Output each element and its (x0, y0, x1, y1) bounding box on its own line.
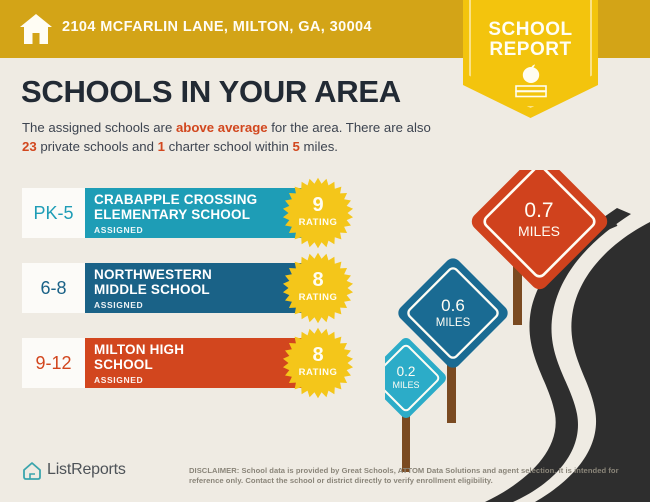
badge-title: SCHOOL REPORT (463, 20, 598, 60)
summary-part-4: charter school within (165, 139, 293, 154)
summary-highlight-radius: 5 (293, 139, 300, 154)
sign-2-unit: MILES (436, 317, 471, 329)
summary-part-2: for the area. There are also (268, 120, 431, 135)
summary-part-5: miles. (300, 139, 338, 154)
school-report-badge: SCHOOL REPORT (463, 0, 598, 118)
school-name-bar: CRABAPPLE CROSSING ELEMENTARY SCHOOL ASS… (85, 188, 315, 238)
listreports-house-icon (22, 461, 42, 481)
grade-range-badge: PK-5 (22, 188, 85, 238)
school-name-bar: NORTHWESTERN MIDDLE SCHOOL ASSIGNED (85, 263, 315, 313)
property-address: 2104 MCFARLIN LANE, MILTON, GA, 30004 (62, 19, 372, 35)
road-scene: 0.7 MILES 0.6 MILES 0.2 MILES (385, 170, 650, 502)
sign-3-unit: MILES (518, 223, 560, 239)
disclaimer-text: DISCLAIMER: School data is provided by G… (189, 466, 636, 486)
grade-range-badge: 9-12 (22, 338, 85, 388)
school-name-bar: MILTON HIGH SCHOOL ASSIGNED (85, 338, 315, 388)
school-name-line2: ELEMENTARY SCHOOL (94, 207, 250, 222)
rating-starburst: 9 RATING (282, 177, 354, 249)
school-name-line1: CRABAPPLE CROSSING (94, 192, 257, 207)
sign-3-value: 0.7 (524, 199, 553, 222)
summary-highlight-private-count: 23 (22, 139, 37, 154)
rating-value: 9 (282, 194, 354, 217)
summary-highlight-charter-count: 1 (158, 139, 165, 154)
road-scene-svg: 0.7 MILES 0.6 MILES 0.2 MILES (385, 170, 650, 502)
badge-title-line1: SCHOOL (488, 19, 572, 40)
sign-1-unit: MILES (392, 380, 419, 390)
rating-value: 8 (282, 344, 354, 367)
school-name-line1: NORTHWESTERN (94, 267, 212, 282)
page-title: SCHOOLS IN YOUR AREA (21, 74, 401, 110)
listreports-logo-text: ListReports (47, 461, 126, 479)
rating-starburst: 8 RATING (282, 252, 354, 324)
rating-starburst: 8 RATING (282, 327, 354, 399)
school-name-line1: MILTON HIGH (94, 342, 184, 357)
badge-title-line2: REPORT (489, 39, 571, 60)
summary-part-1: The assigned schools are (22, 120, 176, 135)
grade-range-label: 6-8 (40, 278, 66, 299)
apple-on-book-icon (508, 62, 554, 102)
rating-caption: RATING (282, 367, 354, 378)
school-name-line2: SCHOOL (94, 357, 153, 372)
grade-range-label: 9-12 (35, 353, 71, 374)
summary-text: The assigned schools are above average f… (22, 118, 442, 156)
school-name-line2: MIDDLE SCHOOL (94, 282, 210, 297)
grade-range-label: PK-5 (33, 203, 73, 224)
sign-1-value: 0.2 (397, 364, 416, 379)
summary-part-3: private schools and (37, 139, 158, 154)
rating-caption: RATING (282, 292, 354, 303)
summary-highlight-above-average: above average (176, 120, 268, 135)
grade-range-badge: 6-8 (22, 263, 85, 313)
school-report-infographic: 2104 MCFARLIN LANE, MILTON, GA, 30004 SC… (0, 0, 650, 502)
sign-2-value: 0.6 (441, 296, 465, 315)
home-icon (18, 12, 54, 46)
rating-value: 8 (282, 269, 354, 292)
rating-caption: RATING (282, 217, 354, 228)
